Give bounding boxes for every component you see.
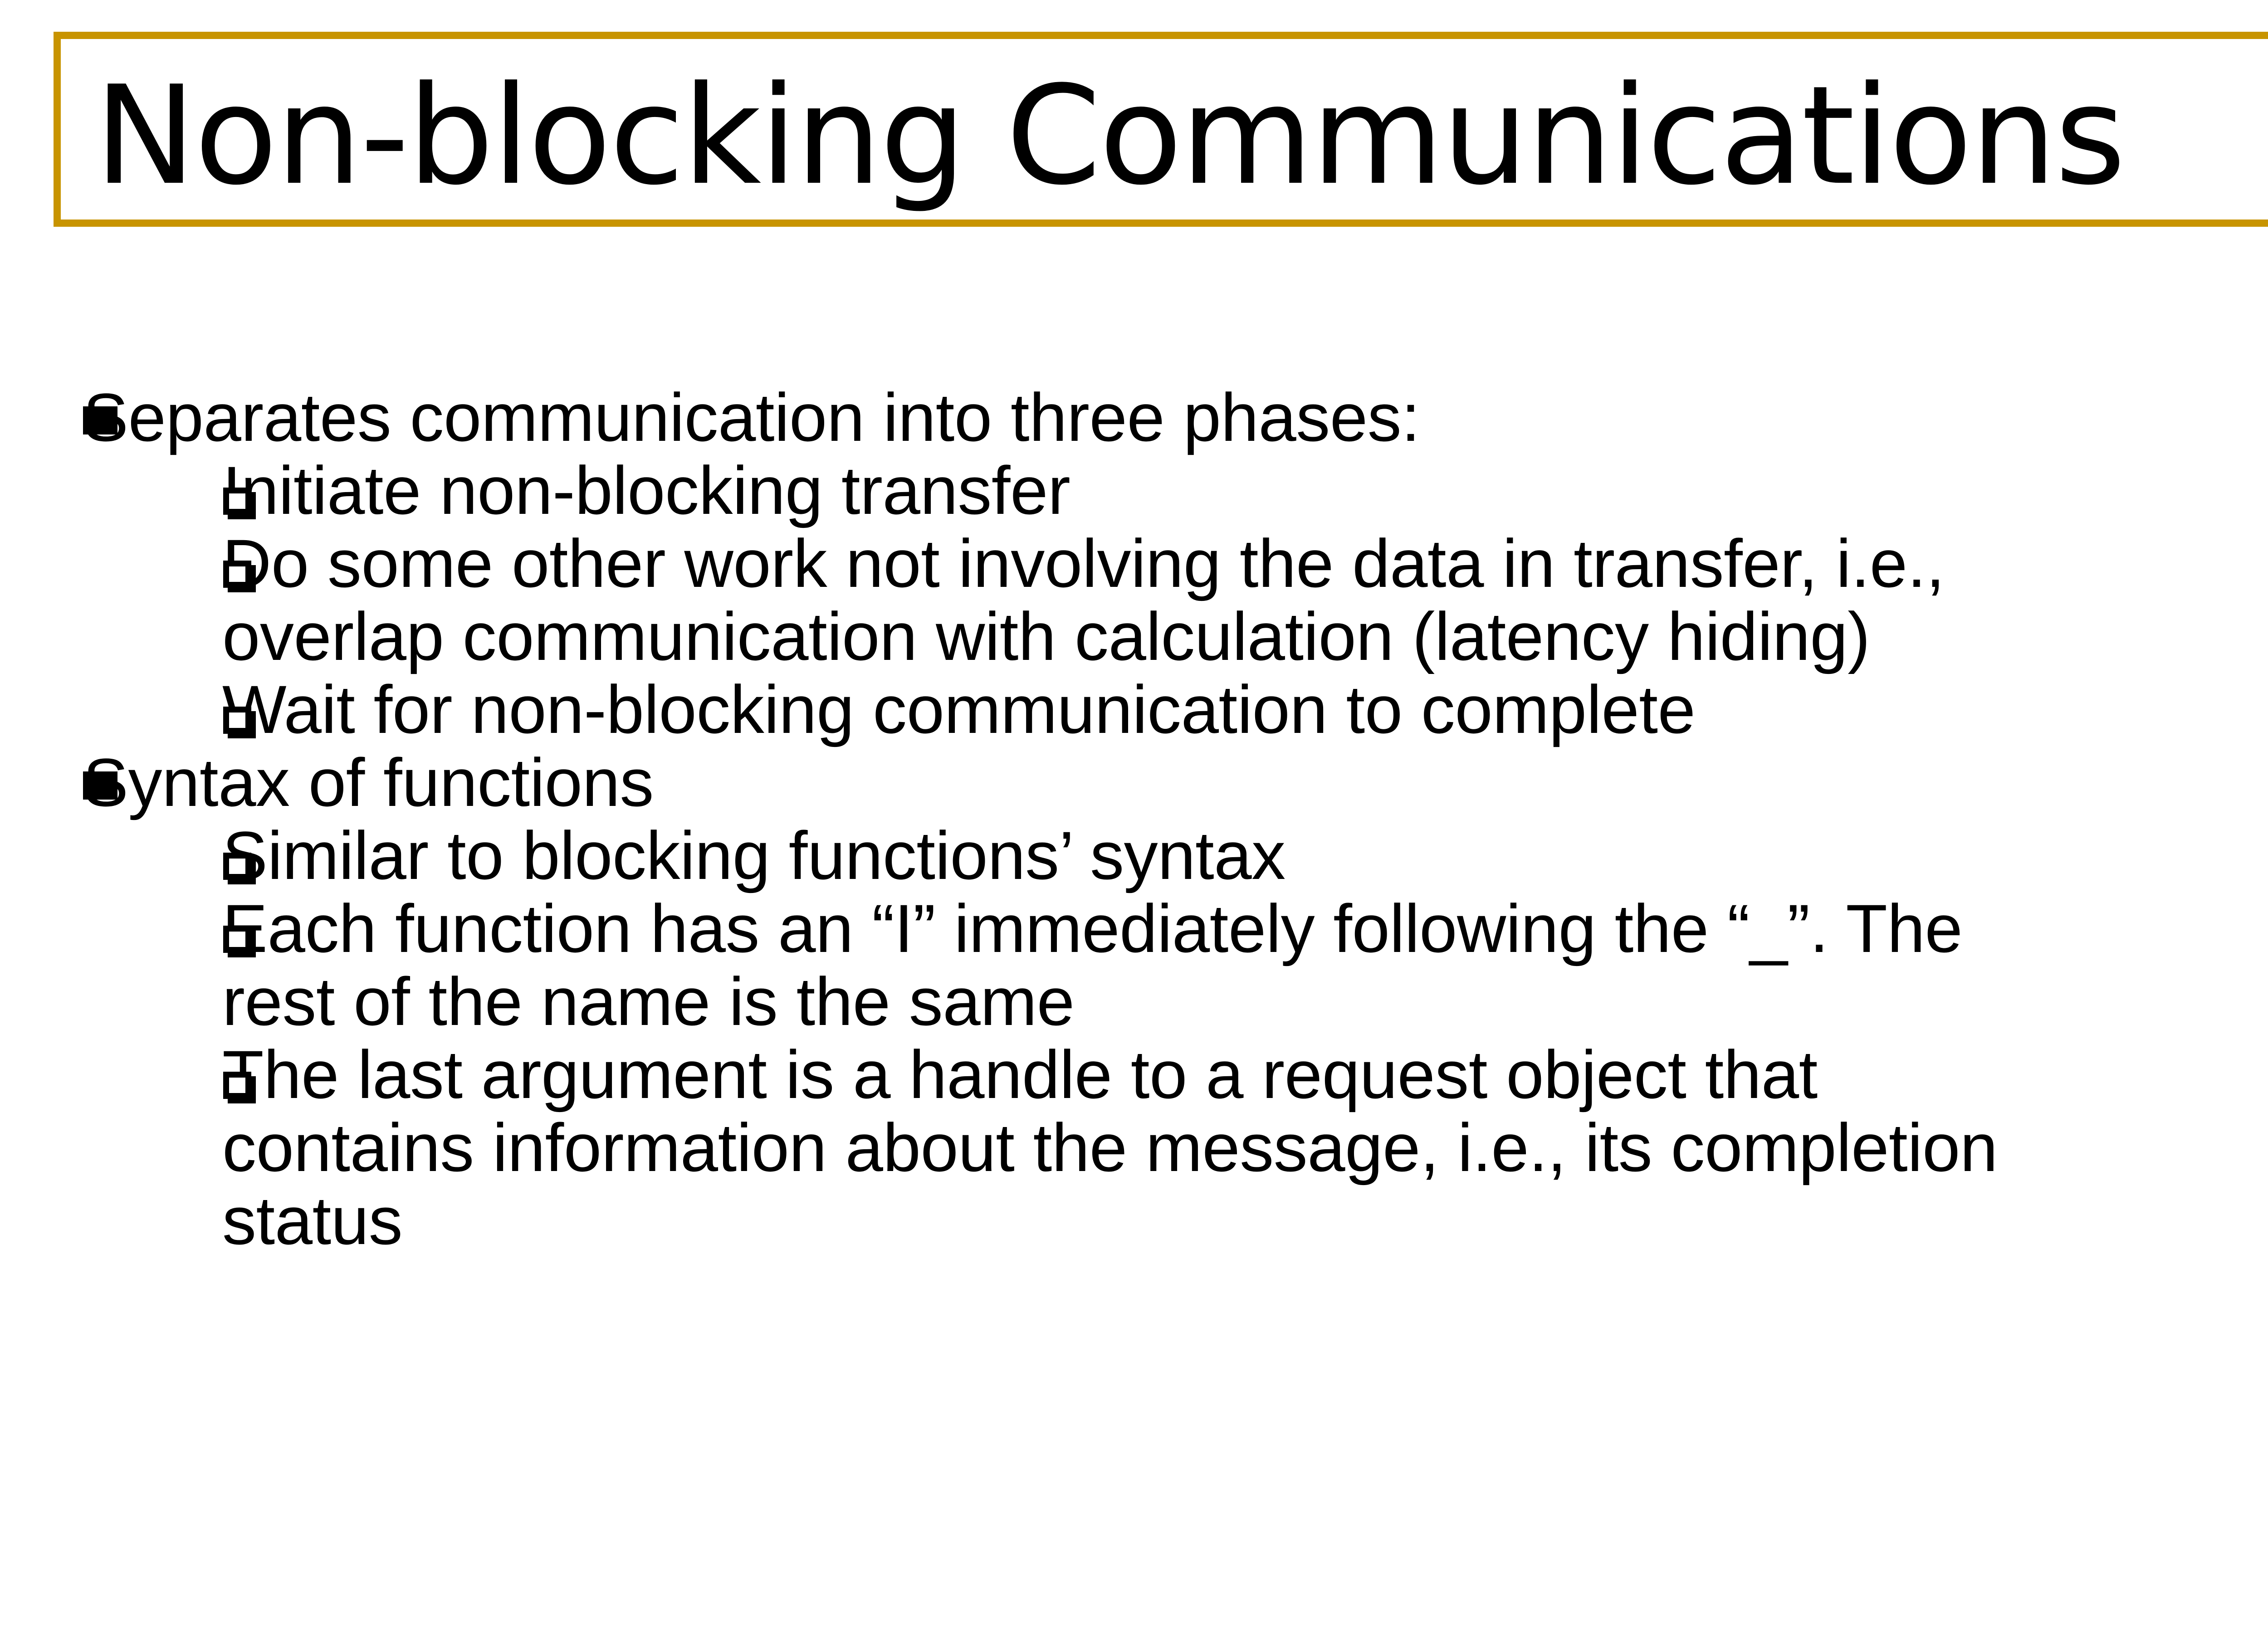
hollow-square-bullet-icon bbox=[223, 707, 251, 734]
filled-square-bullet-icon bbox=[83, 406, 117, 434]
list-item: Similar to blocking functions’ syntax bbox=[0, 819, 2268, 892]
list-item-label: The last argument is a handle to a reque… bbox=[222, 1038, 2268, 1111]
hollow-square-bullet-icon bbox=[223, 1072, 251, 1099]
page-title: Non-blocking Communications bbox=[94, 54, 2268, 236]
hollow-square-bullet-icon bbox=[223, 853, 251, 880]
list-item: Syntax of functions bbox=[0, 746, 2268, 819]
list-item: Do some other work not involving the dat… bbox=[0, 527, 2268, 673]
filled-square-bullet-icon bbox=[83, 771, 117, 800]
list-item-label: Each function has an “I” immediately fol… bbox=[222, 892, 2268, 965]
list-item-label-cont: rest of the name is the same bbox=[222, 965, 2268, 1038]
list-item-label-cont2: status bbox=[222, 1184, 2268, 1257]
list-item-label-cont: contains information about the message, … bbox=[222, 1111, 2268, 1184]
list-item-label: Wait for non-blocking communication to c… bbox=[222, 673, 2268, 746]
list-item-label: Syntax of functions bbox=[83, 746, 2268, 819]
list-item: Each function has an “I” immediately fol… bbox=[0, 892, 2268, 1038]
hollow-square-bullet-icon bbox=[223, 488, 251, 515]
list-item-label-cont: overlap communication with calculation (… bbox=[222, 600, 2268, 673]
bullet-list: Separates communication into three phase… bbox=[0, 381, 2268, 1257]
list-item-label: Initiate non-blocking transfer bbox=[222, 454, 2268, 527]
list-item: The last argument is a handle to a reque… bbox=[0, 1038, 2268, 1257]
list-item: Separates communication into three phase… bbox=[0, 381, 2268, 454]
list-item: Wait for non-blocking communication to c… bbox=[0, 673, 2268, 746]
hollow-square-bullet-icon bbox=[223, 926, 251, 953]
hollow-square-bullet-icon bbox=[223, 561, 251, 588]
list-item: Initiate non-blocking transfer bbox=[0, 454, 2268, 527]
list-item-label: Similar to blocking functions’ syntax bbox=[222, 819, 2268, 892]
list-item-label: Do some other work not involving the dat… bbox=[222, 527, 2268, 600]
list-item-label: Separates communication into three phase… bbox=[83, 381, 2268, 454]
